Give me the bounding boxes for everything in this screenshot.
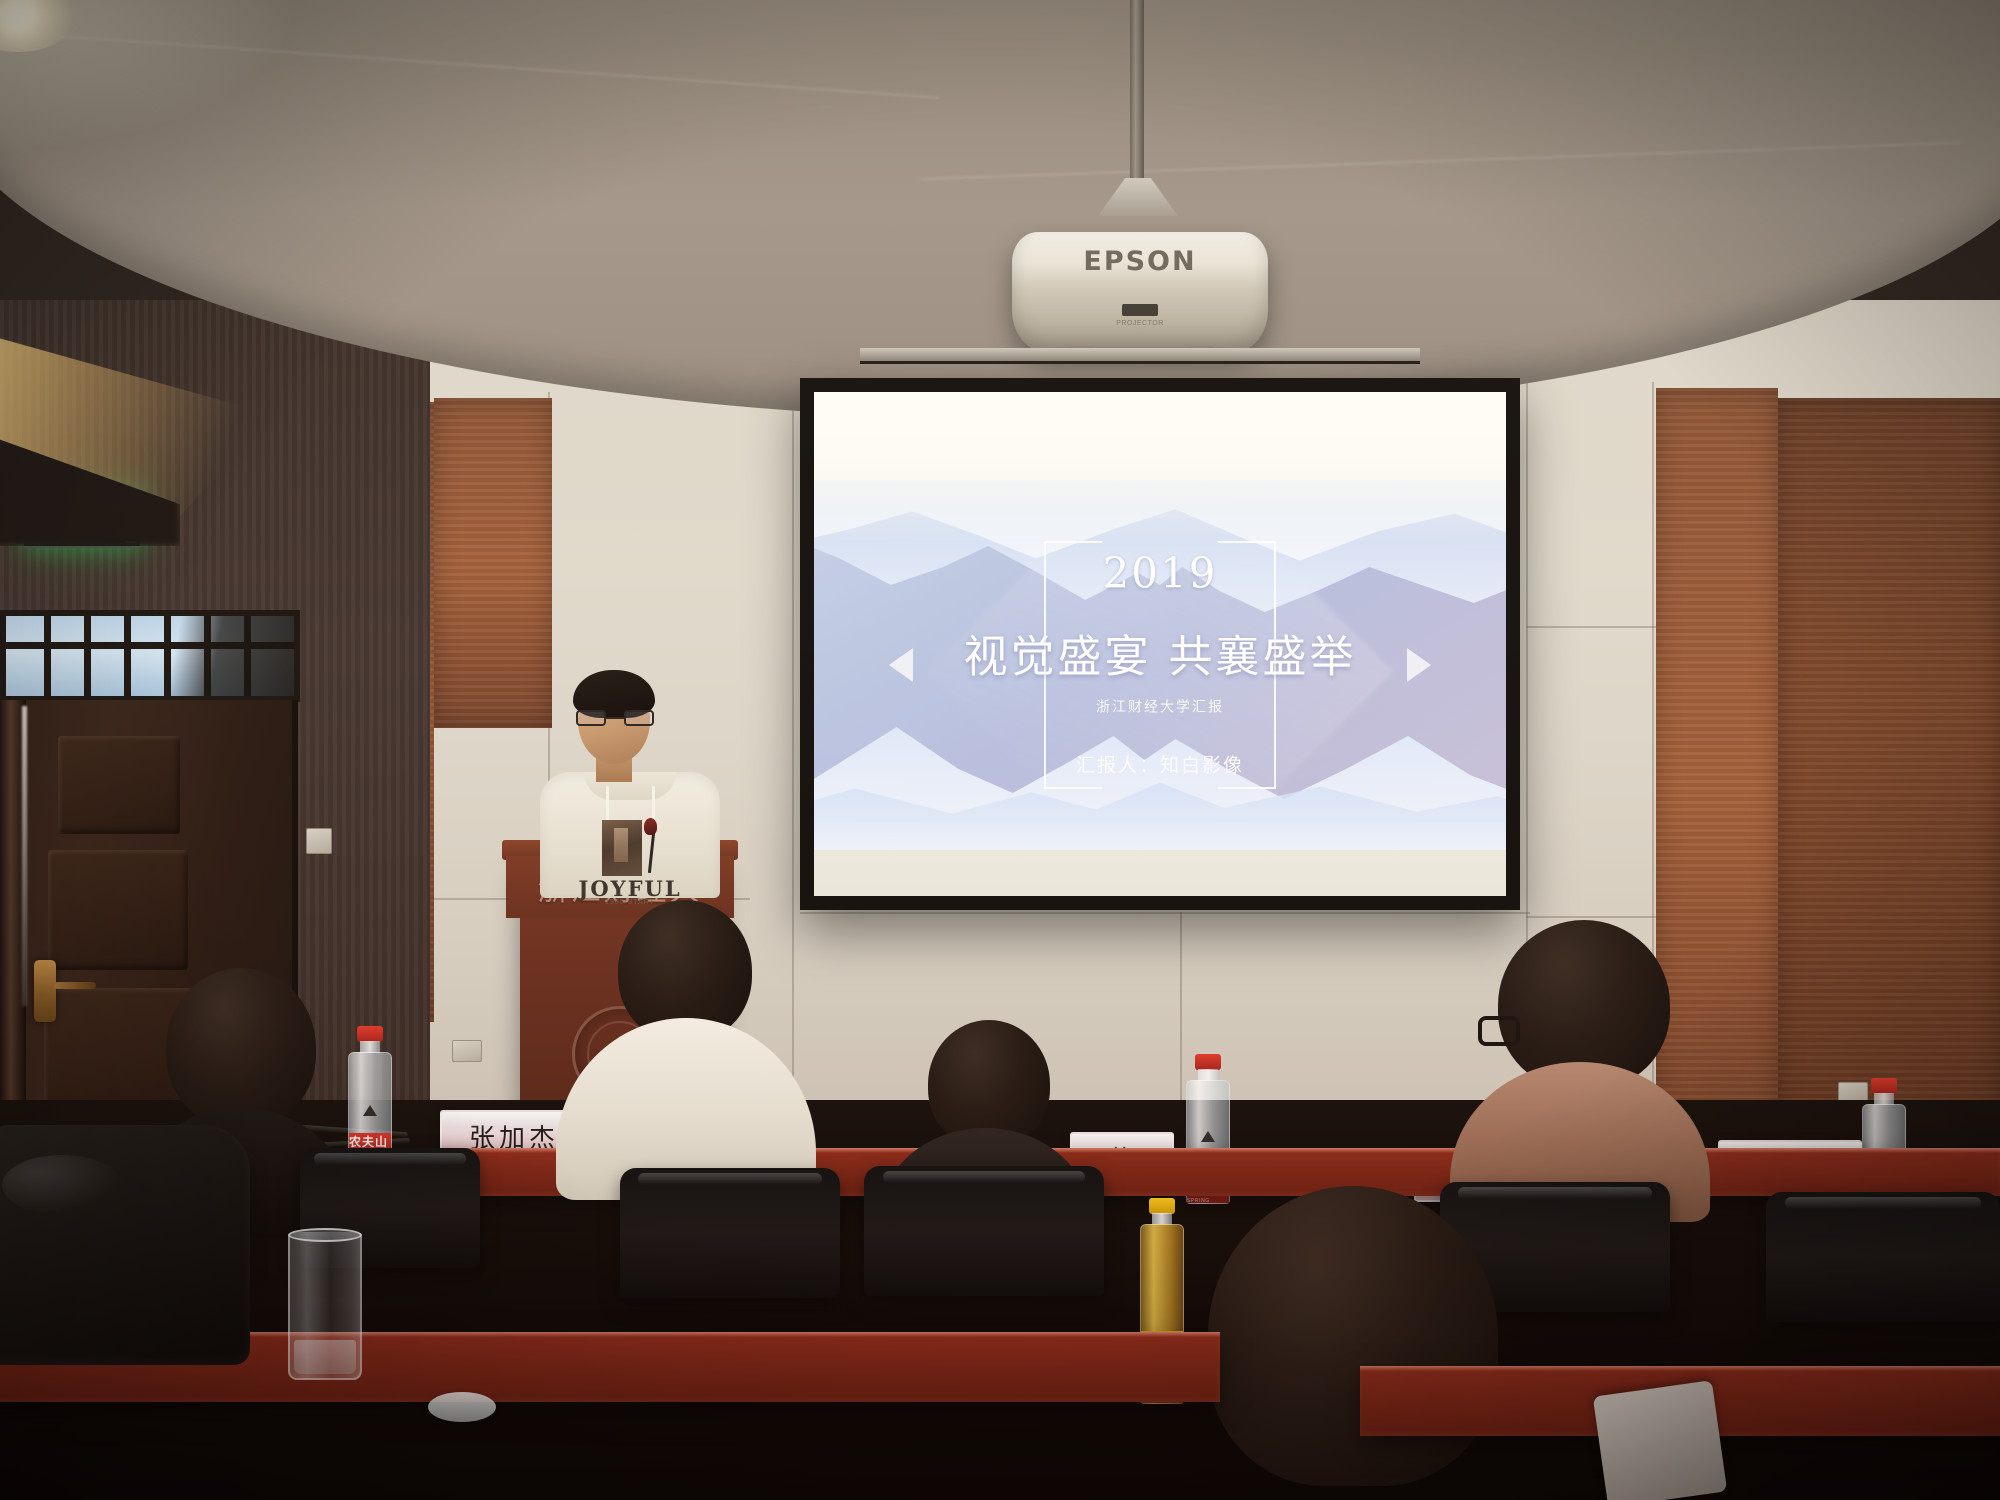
handbag[interactable] — [0, 1125, 250, 1365]
door-transom-window — [0, 610, 300, 702]
audience-person-foreground — [1168, 1186, 1548, 1500]
audience-head — [166, 968, 316, 1128]
conference-table-middle — [240, 1148, 2000, 1196]
screen-surface: 2019 视觉盛宴 共襄盛举 浙江财经大学汇报 汇报人：知白影像 — [814, 392, 1506, 896]
wall-outlet — [452, 1040, 482, 1062]
slide-year: 2019 — [814, 553, 1506, 595]
door-mid-panel — [48, 850, 188, 970]
presenter-shirt-brand: JOYFUL — [540, 876, 720, 901]
door-handle[interactable] — [34, 960, 56, 1022]
cup-lid[interactable] — [428, 1392, 496, 1422]
audience-glasses — [1478, 1016, 1520, 1046]
projector-sub-label: PROJECTOR — [1012, 320, 1268, 327]
projector-vent — [1122, 304, 1158, 316]
audience-chair[interactable] — [620, 1168, 840, 1298]
projector: EPSON PROJECTOR — [1012, 232, 1268, 352]
slide-title: 视觉盛宴 共襄盛举 — [814, 621, 1506, 685]
wood-wall-panel — [434, 398, 552, 728]
light-switch[interactable] — [306, 828, 332, 854]
microphone-icon — [644, 818, 657, 835]
wood-wall-panel — [1778, 398, 2000, 1158]
slide-presenter: 汇报人：知白影像 — [814, 751, 1506, 778]
ceiling-spotlight — [0, 0, 78, 52]
audience-person — [1450, 920, 1710, 1210]
projector-brand-label: EPSON — [1012, 246, 1268, 277]
presenter-shirt-graphic — [602, 820, 642, 876]
slide-text-block: 2019 视觉盛宴 共襄盛举 浙江财经大学汇报 汇报人：知白影像 — [814, 553, 1506, 778]
projection-screen: 2019 视觉盛宴 共襄盛举 浙江财经大学汇报 汇报人：知白影像 — [800, 378, 1520, 910]
slide-subtitle: 浙江财经大学汇报 — [814, 697, 1506, 717]
mobile-phone[interactable] — [1593, 1380, 1727, 1500]
presenter-glasses — [576, 710, 654, 726]
audience-head — [1208, 1186, 1498, 1486]
audience-chair[interactable] — [864, 1166, 1104, 1296]
presenter-person: JOYFUL 1985/START — [540, 668, 720, 898]
audience-chair[interactable] — [1766, 1192, 2000, 1322]
door-upper-panel — [58, 736, 180, 834]
projector-mount-pole — [1130, 0, 1144, 180]
presentation-slide: 2019 视觉盛宴 共襄盛举 浙江财经大学汇报 汇报人：知白影像 — [814, 480, 1506, 850]
presentation-room-photo: 安全出口 EXIT EPSON PROJECTOR — [0, 0, 2000, 1500]
audience-person — [556, 900, 816, 1200]
water-glass[interactable] — [288, 1232, 362, 1380]
projector-shelf — [860, 348, 1420, 364]
door-light-gap — [22, 706, 27, 1006]
wall-panel-seam — [800, 912, 1530, 914]
